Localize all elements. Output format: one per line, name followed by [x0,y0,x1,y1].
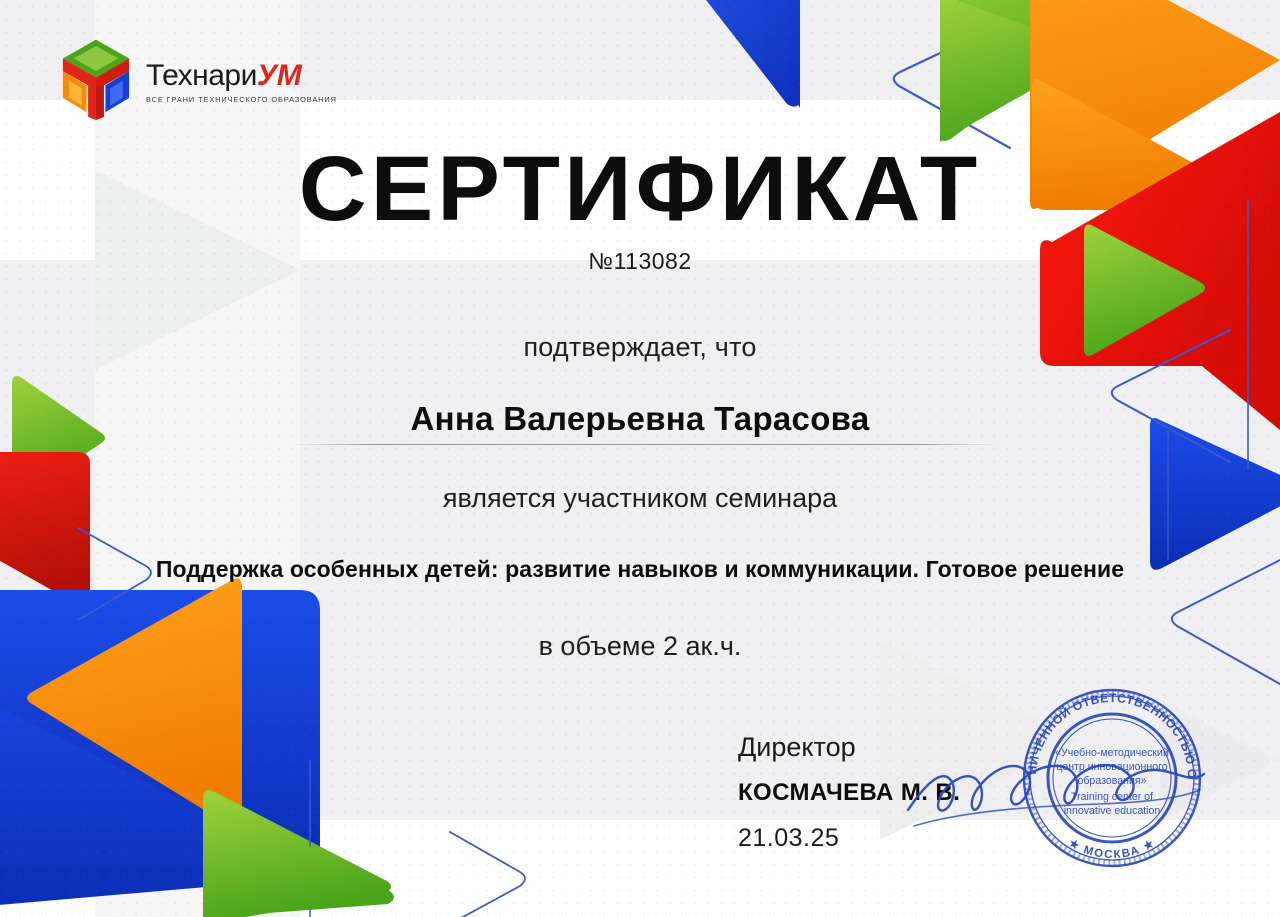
recipient-underline [290,444,1000,445]
participation-role: является участником семинара [0,483,1280,514]
handwritten-signature [900,740,1230,860]
certificate-page: ТехнариУМ ВСЕ ГРАНИ ТЕХНИЧЕСКОГО ОБРАЗОВ… [0,0,1280,917]
program-volume: в объеме 2 ак.ч. [0,631,1280,662]
certificate-title: СЕРТИФИКАТ [0,143,1280,235]
recipient-name: Анна Валерьевна Тарасова [0,400,1280,438]
certificate-number: №113082 [0,248,1280,275]
program-title: Поддержка особенных детей: развитие навы… [0,556,1280,583]
confirms-label: подтверждает, что [0,332,1280,363]
